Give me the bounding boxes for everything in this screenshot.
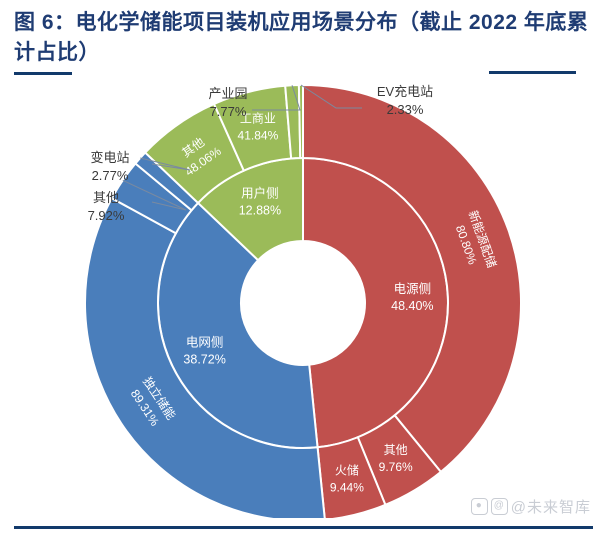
- title-rule-left: [14, 72, 72, 75]
- panda-icon: ●: [471, 498, 488, 515]
- svg-text:7.92%: 7.92%: [88, 208, 125, 223]
- svg-text:电网侧: 电网侧: [186, 335, 224, 349]
- svg-text:2.33%: 2.33%: [387, 102, 424, 117]
- svg-text:41.84%: 41.84%: [238, 128, 279, 142]
- svg-text:产业园: 产业园: [208, 86, 247, 101]
- svg-text:火储: 火储: [335, 462, 359, 477]
- donut-chart-svg: 电源侧48.40%电网侧38.72%用户侧12.88%新能源配储80.80%其他…: [0, 78, 607, 518]
- svg-text:48.40%: 48.40%: [391, 299, 433, 313]
- title-rule-right: [489, 71, 576, 74]
- svg-text:9.76%: 9.76%: [379, 460, 413, 474]
- svg-text:7.77%: 7.77%: [210, 104, 247, 119]
- sunburst-chart: 电源侧48.40%电网侧38.72%用户侧12.88%新能源配储80.80%其他…: [0, 78, 607, 518]
- svg-text:12.88%: 12.88%: [239, 204, 281, 218]
- svg-text:其他: 其他: [384, 443, 408, 457]
- watermark: ● @ @未来智库: [471, 496, 591, 517]
- svg-text:38.72%: 38.72%: [183, 352, 225, 366]
- footer-rule: [14, 526, 593, 529]
- watermark-label: @未来智库: [511, 496, 591, 517]
- svg-text:用户侧: 用户侧: [241, 186, 279, 201]
- svg-text:电源侧: 电源侧: [394, 282, 432, 296]
- svg-text:变电站: 变电站: [90, 150, 129, 165]
- svg-text:9.44%: 9.44%: [330, 480, 364, 494]
- svg-text:EV充电站: EV充电站: [377, 84, 433, 99]
- page-title: 图 6：电化学储能项目装机应用场景分布（截止 2022 年底累计占比）: [14, 8, 589, 68]
- at-icon: @: [491, 498, 508, 515]
- outer-segment-9[interactable]: [299, 85, 303, 158]
- svg-text:2.77%: 2.77%: [92, 168, 129, 183]
- svg-text:其他: 其他: [93, 190, 119, 205]
